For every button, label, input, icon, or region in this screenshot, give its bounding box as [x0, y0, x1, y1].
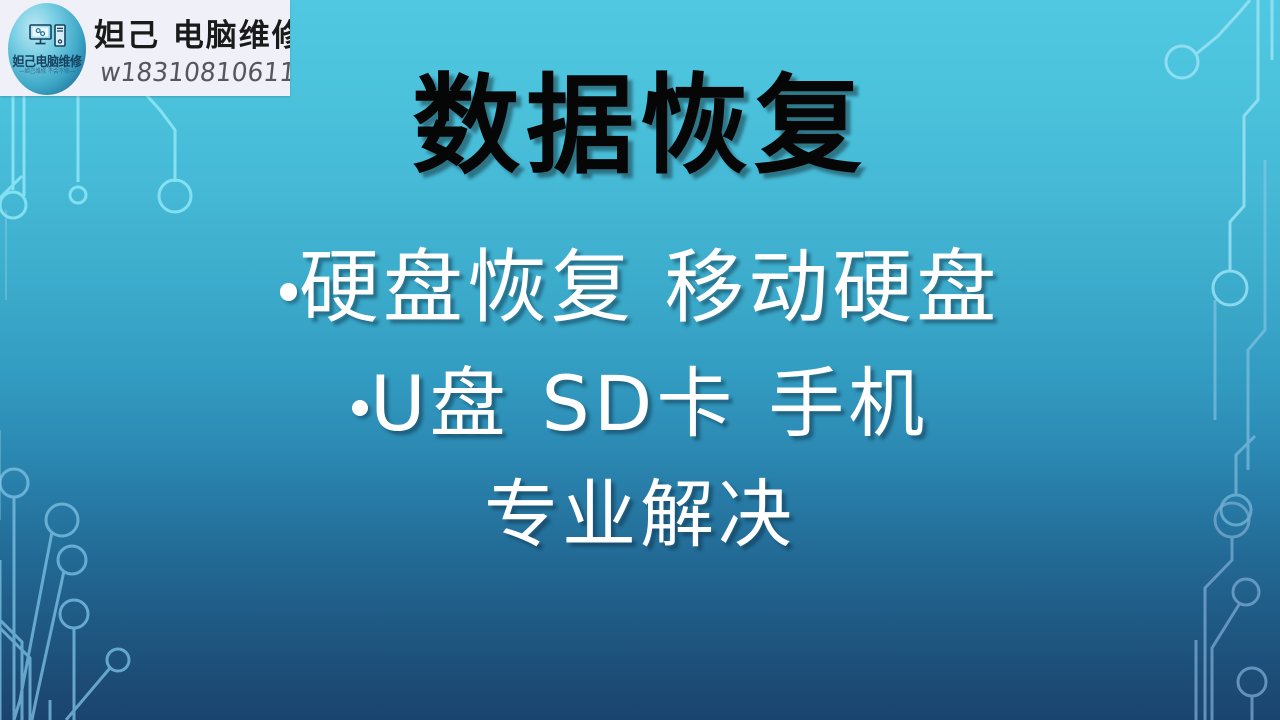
service-line-2-seg-phone: 手机 — [768, 359, 928, 448]
service-line-1: 硬盘恢复 移动硬盘 — [0, 248, 1280, 328]
service-line-2-seg-pan: 盘 — [430, 359, 510, 448]
shop-name-text: 妲己 电脑维修 — [94, 10, 290, 55]
bullet-dot-icon — [352, 400, 369, 417]
service-line-2-seg-sd: SD — [542, 359, 657, 448]
service-line-2-seg-u: U — [370, 359, 430, 448]
bullet-dot-icon — [280, 283, 298, 301]
slide-canvas: 妲己电脑维修 —妲己维修 不会不修— 妲己 电脑维修 w18310810611 … — [0, 0, 1280, 720]
service-line-1-text: 硬盘恢复 移动硬盘 — [299, 241, 1000, 334]
desktop-computer-icon — [29, 24, 67, 50]
service-line-3: 专业解决 — [0, 478, 1280, 552]
page-title: 数据恢复 — [0, 72, 1280, 180]
service-list: 硬盘恢复 移动硬盘 U盘SD卡手机 专业解决 — [0, 248, 1280, 552]
service-line-2: U盘SD卡手机 — [0, 366, 1280, 442]
service-line-2-seg-ka: 卡 — [656, 359, 736, 448]
